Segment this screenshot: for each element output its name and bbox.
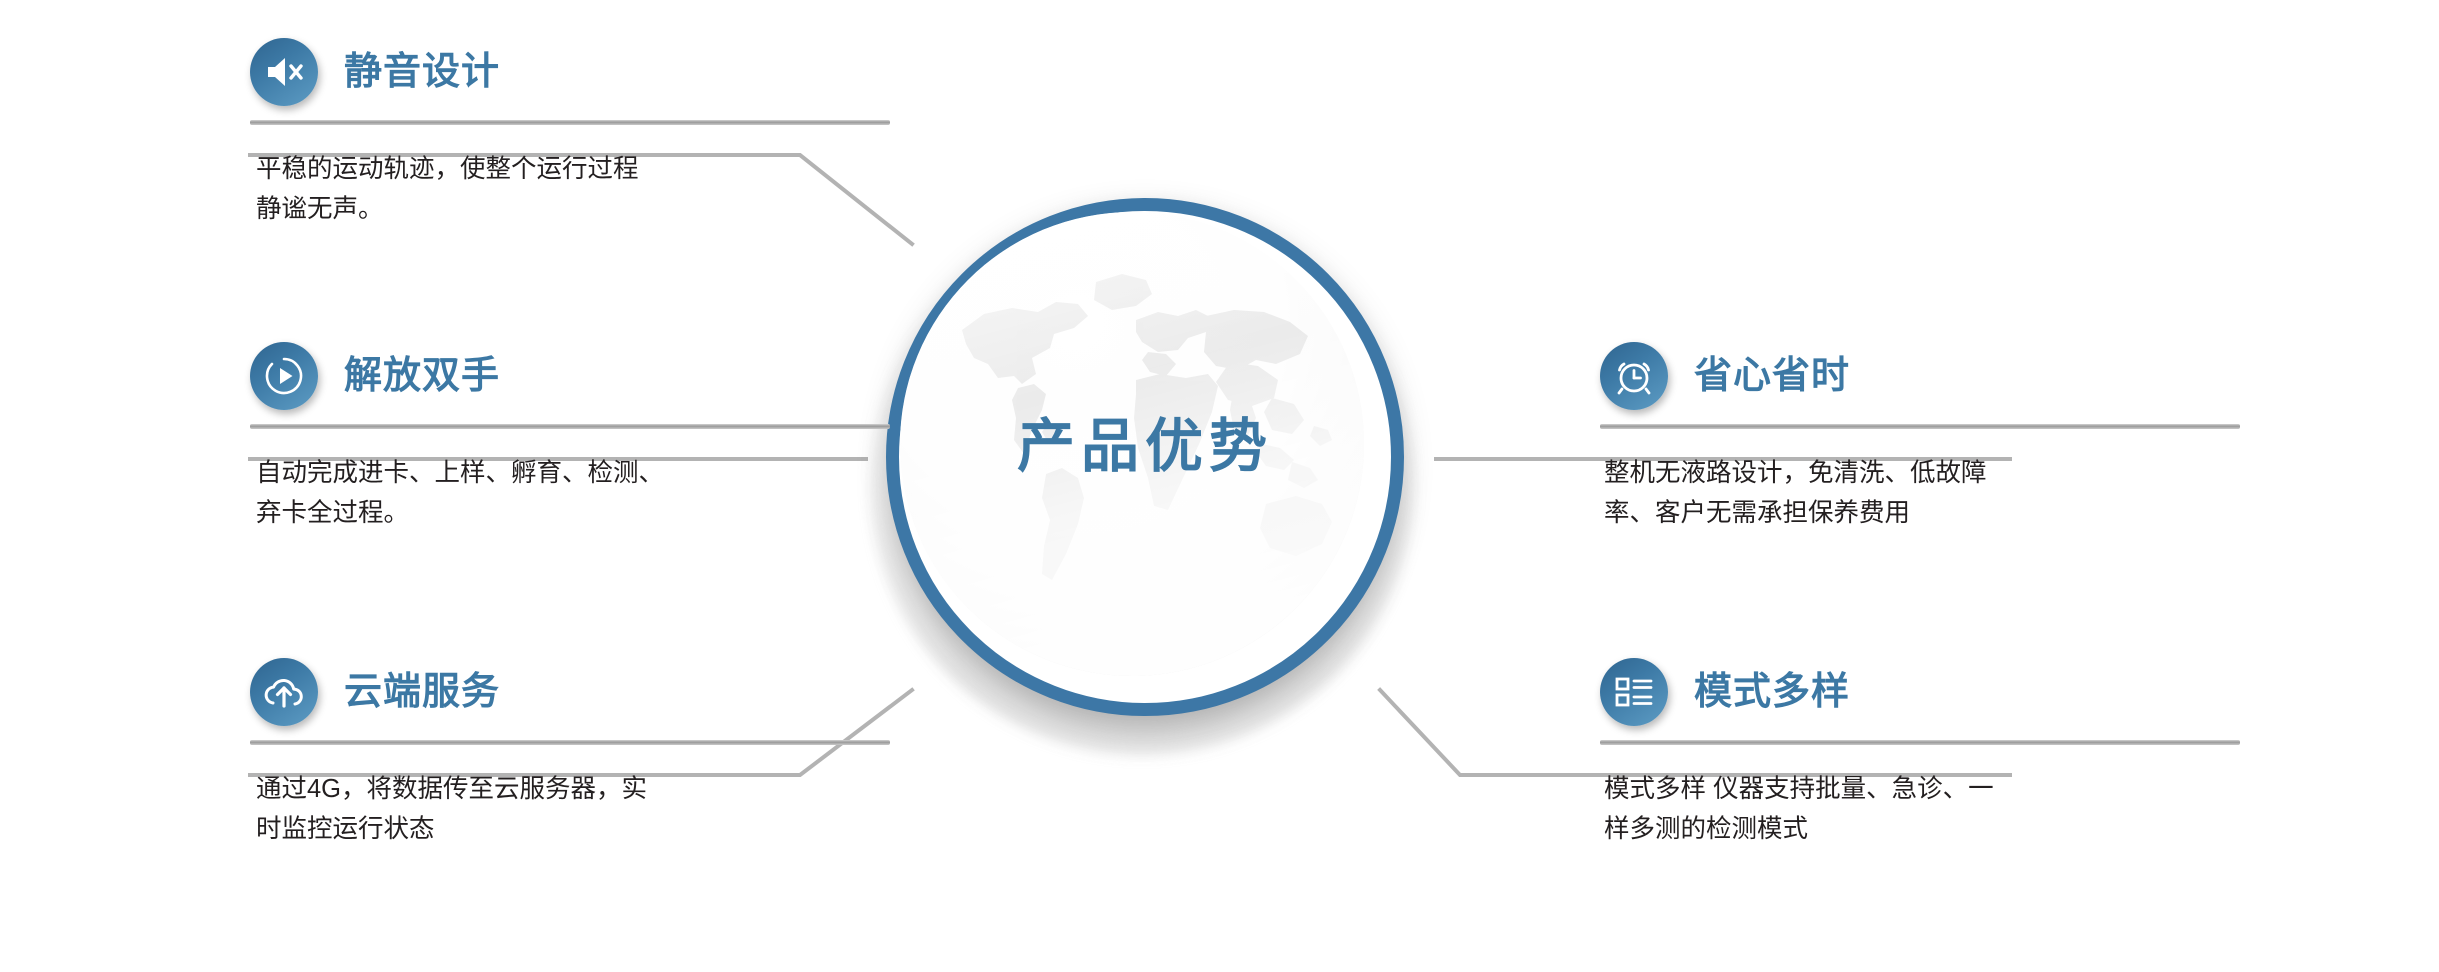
- feature-left-cloud-service: 云端服务 通过4G，将数据传至云服务器，实 时监控运行状态: [250, 650, 890, 850]
- feature-header: 省心省时: [1600, 334, 2240, 418]
- feature-body: 通过4G，将数据传至云服务器，实 时监控运行状态: [250, 769, 816, 850]
- mute-speaker-icon[interactable]: [250, 38, 318, 106]
- feature-title: 模式多样: [1694, 673, 1850, 711]
- feature-body: 平稳的运动轨迹，使整个运行过程 静谧无声。: [250, 149, 816, 230]
- feature-body: 自动完成进卡、上样、孵育、检测、 弃卡全过程。: [250, 453, 816, 534]
- feature-divider: [1600, 740, 2240, 745]
- feature-divider: [250, 120, 890, 125]
- center-globe: 产品优势: [862, 186, 1422, 746]
- feature-right-time-saving: 省心省时 整机无液路设计，免清洗、低故障 率、客户无需承担保养费用: [1600, 334, 2240, 534]
- feature-header: 静音设计: [250, 30, 890, 114]
- play-circle-icon[interactable]: [250, 342, 318, 410]
- feature-title: 静音设计: [344, 53, 500, 91]
- list-view-icon[interactable]: [1600, 658, 1668, 726]
- center-title: 产品优势: [862, 418, 1422, 476]
- feature-header: 云端服务: [250, 650, 890, 734]
- feature-title: 解放双手: [344, 357, 500, 395]
- product-advantages-infographic: 产品优势 静音设计 平稳的运动轨迹，使整个运行过程 静谧无声。: [0, 0, 2439, 972]
- feature-header: 模式多样: [1600, 650, 2240, 734]
- feature-left-hands-free: 解放双手 自动完成进卡、上样、孵育、检测、 弃卡全过程。: [250, 334, 890, 534]
- feature-divider: [1600, 424, 2240, 429]
- cloud-upload-icon[interactable]: [250, 658, 318, 726]
- feature-body: 整机无液路设计，免清洗、低故障 率、客户无需承担保养费用: [1600, 453, 2164, 534]
- feature-body: 模式多样 仪器支持批量、急诊、一 样多测的检测模式: [1600, 769, 2164, 850]
- feature-title: 省心省时: [1694, 357, 1850, 395]
- feature-right-multi-mode: 模式多样 模式多样 仪器支持批量、急诊、一 样多测的检测模式: [1600, 650, 2240, 850]
- feature-divider: [250, 740, 890, 745]
- alarm-clock-icon[interactable]: [1600, 342, 1668, 410]
- feature-left-mute-design: 静音设计 平稳的运动轨迹，使整个运行过程 静谧无声。: [250, 30, 890, 230]
- feature-title: 云端服务: [344, 673, 500, 711]
- feature-header: 解放双手: [250, 334, 890, 418]
- feature-divider: [250, 424, 890, 429]
